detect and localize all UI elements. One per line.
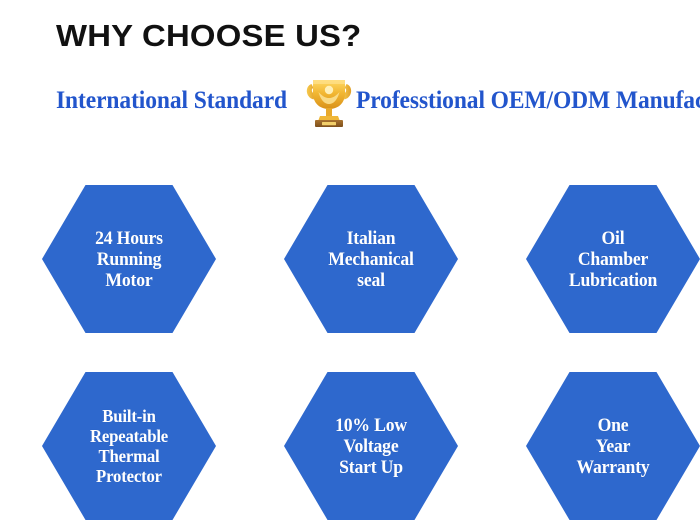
feature-hexagon-24-hours-running-motor[interactable]: 24 Hours Running Motor	[42, 185, 216, 333]
feature-label: Oil Chamber Lubrication	[553, 228, 674, 291]
feature-label: One Year Warranty	[553, 415, 674, 478]
feature-cell: 24 Hours Running Motor	[22, 185, 242, 345]
page-title: WHY CHOOSE US?	[56, 19, 361, 53]
feature-cell: One Year Warranty	[506, 372, 700, 532]
feature-row-top: 24 Hours Running Motor Italian Mechanica…	[0, 185, 700, 345]
feature-hexagon-built-in-thermal-protector[interactable]: Built-in Repeatable Thermal Protector	[42, 372, 216, 520]
feature-label: Built-in Repeatable Thermal Protector	[69, 406, 190, 486]
feature-label: Italian Mechanical seal	[311, 228, 432, 291]
feature-label: 10% Low Voltage Start Up	[311, 415, 432, 478]
feature-label: 24 Hours Running Motor	[69, 228, 190, 291]
feature-hexagon-italian-mechanical-seal[interactable]: Italian Mechanical seal	[284, 185, 458, 333]
feature-hexagon-one-year-warranty[interactable]: One Year Warranty	[526, 372, 700, 520]
feature-hexagon-grid: 24 Hours Running Motor Italian Mechanica…	[0, 176, 700, 528]
feature-cell: Italian Mechanical seal	[264, 185, 484, 345]
feature-hexagon-oil-chamber-lubrication[interactable]: Oil Chamber Lubrication	[526, 185, 700, 333]
subtitle-banner: International Standard	[56, 74, 696, 128]
subtitle-right-text: Professtional OEM/ODM Manufacturer	[356, 86, 700, 116]
subtitle-left-text: International Standard	[56, 86, 287, 116]
why-choose-us-panel: WHY CHOOSE US? International Standard	[0, 0, 700, 528]
trophy-icon	[304, 75, 354, 127]
feature-cell: 10% Low Voltage Start Up	[264, 372, 484, 532]
feature-hexagon-low-voltage-start-up[interactable]: 10% Low Voltage Start Up	[284, 372, 458, 520]
feature-cell: Oil Chamber Lubrication	[506, 185, 700, 345]
feature-cell: Built-in Repeatable Thermal Protector	[22, 372, 242, 532]
feature-row-bottom: Built-in Repeatable Thermal Protector 10…	[0, 372, 700, 532]
